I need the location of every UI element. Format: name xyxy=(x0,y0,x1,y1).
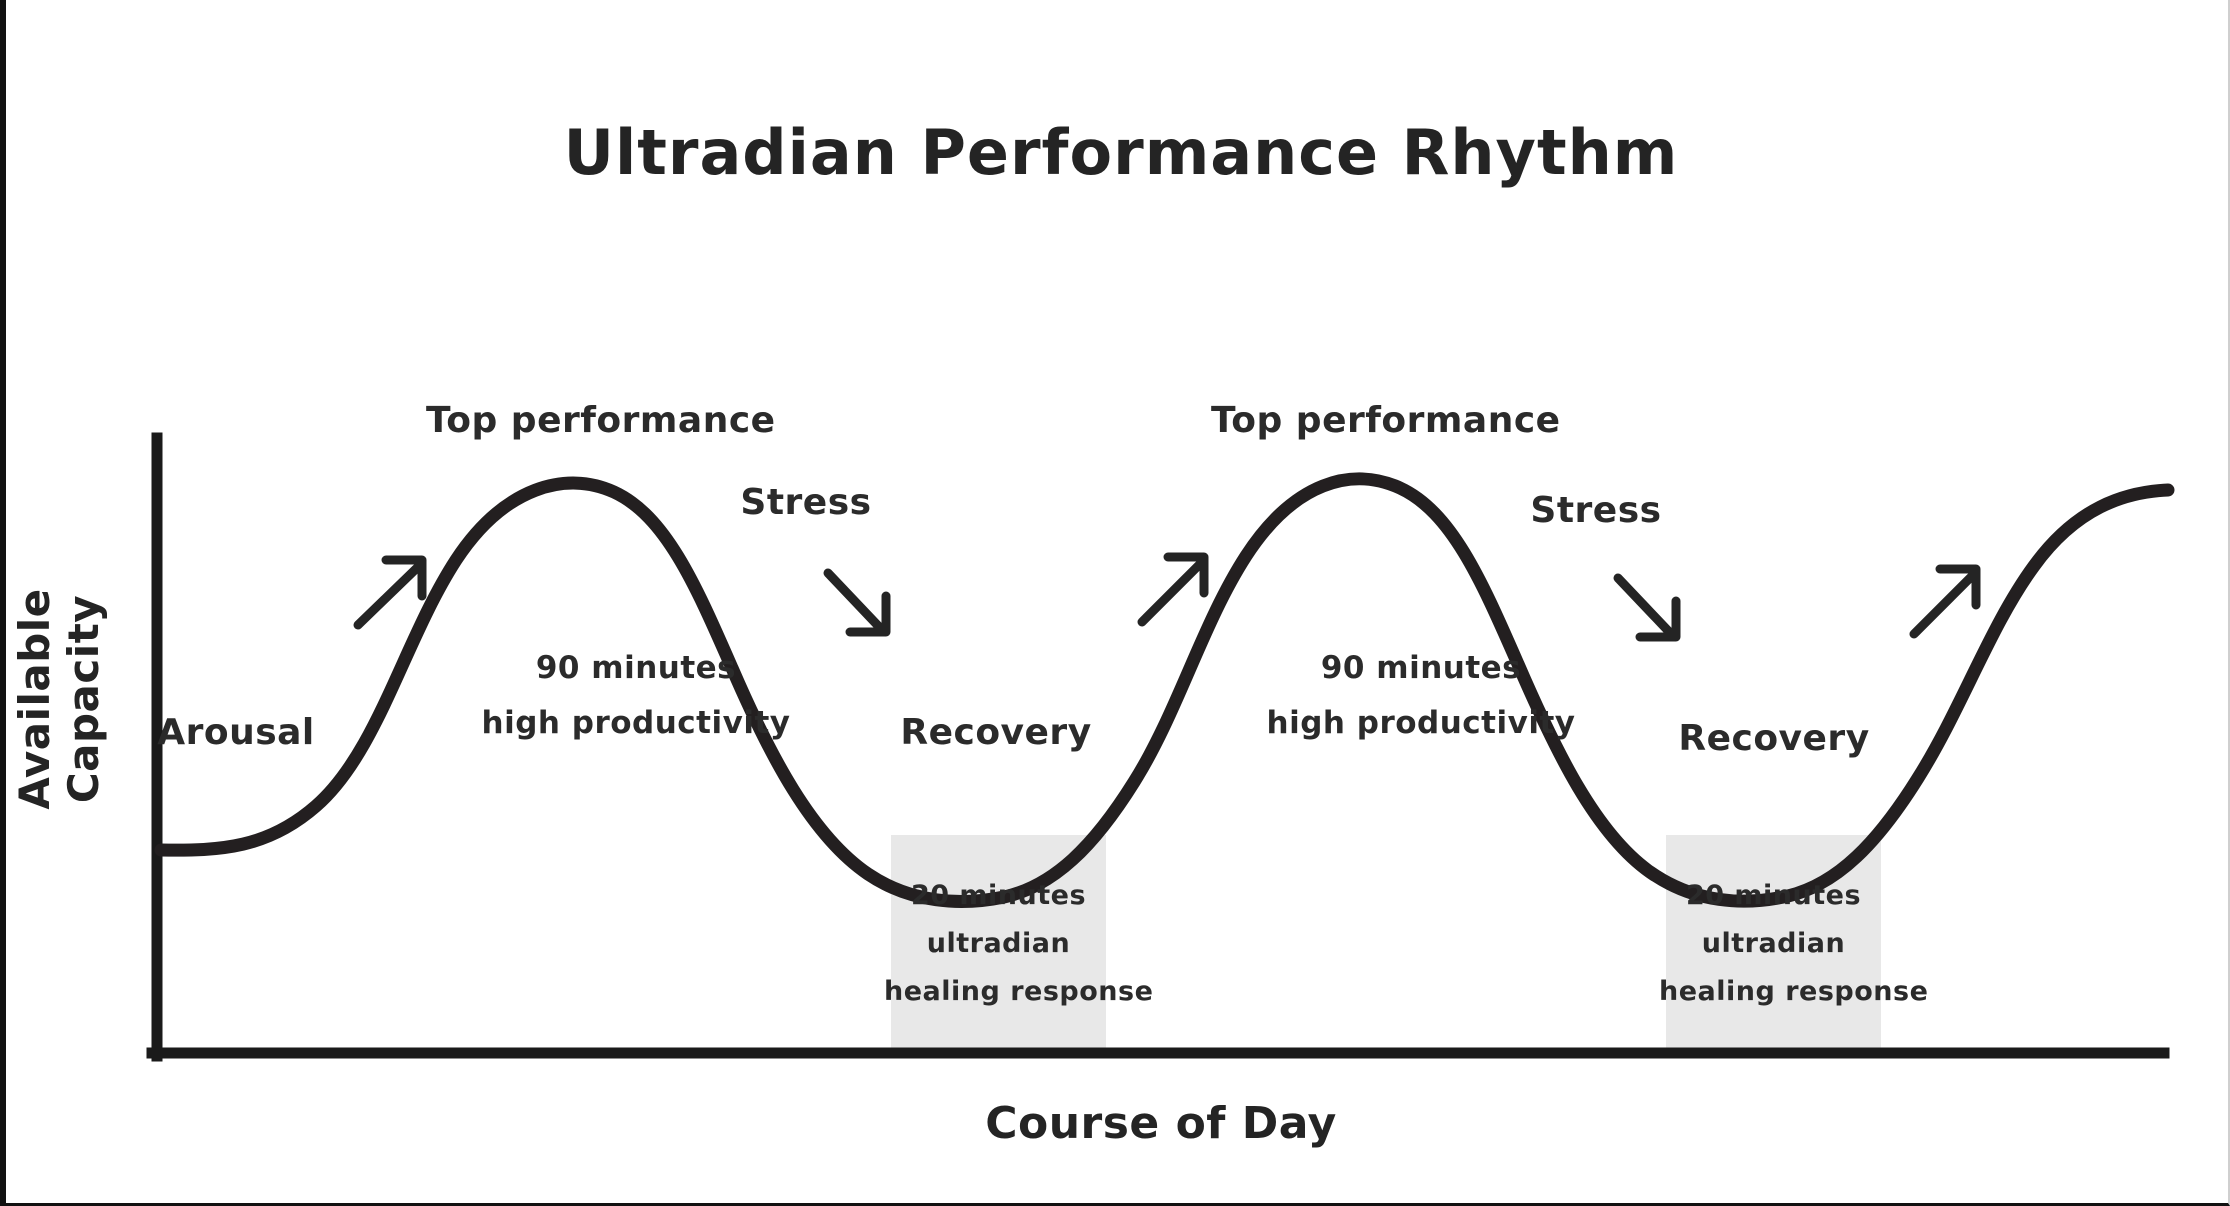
arrow-up-1 xyxy=(358,560,422,625)
arrow-down-2 xyxy=(1618,578,1676,637)
label-stress-1: Stress xyxy=(686,482,926,524)
chart-figure: Ultradian Performance Rhythm Available C… xyxy=(0,0,2230,1206)
label-recovery-1: Recovery xyxy=(826,712,1166,754)
label-top-performance-1: Top performance xyxy=(426,400,766,442)
arrow-down-1 xyxy=(828,573,886,632)
chart-plot-area xyxy=(6,0,2230,1206)
label-productivity-2-line2: high productivity xyxy=(1261,705,1581,742)
label-recovery-2: Recovery xyxy=(1604,718,1944,760)
arrow-up-3 xyxy=(1914,569,1976,634)
label-productivity-2-line1: 90 minutes xyxy=(1261,650,1581,687)
rhythm-curve xyxy=(161,479,2168,902)
label-healing-2-line1: 20 minutes xyxy=(1666,880,1881,912)
label-healing-2-line3: healing response xyxy=(1659,976,1889,1008)
label-healing-1-line1: 20 minutes xyxy=(891,880,1106,912)
label-productivity-1-line1: 90 minutes xyxy=(476,650,796,687)
label-productivity-1-line2: high productivity xyxy=(476,705,796,742)
label-healing-1-line3: healing response xyxy=(884,976,1114,1008)
label-top-performance-2: Top performance xyxy=(1211,400,1551,442)
label-healing-1-line2: ultradian xyxy=(891,928,1106,960)
label-stress-2: Stress xyxy=(1476,490,1716,532)
arrow-up-2 xyxy=(1142,557,1204,622)
label-arousal: Arousal xyxy=(126,712,346,754)
label-healing-2-line2: ultradian xyxy=(1666,928,1881,960)
